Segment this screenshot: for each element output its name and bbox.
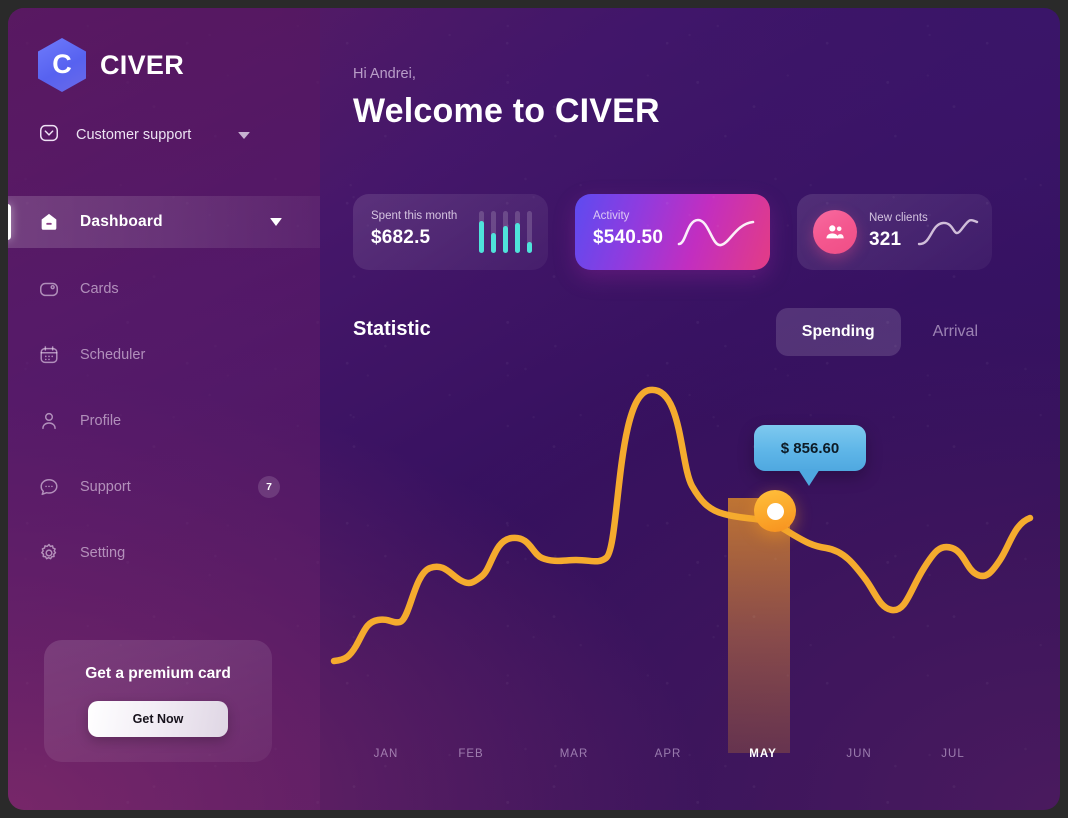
logo-hexagon-icon: C bbox=[38, 38, 86, 92]
gear-icon bbox=[38, 542, 60, 564]
axis-label-jul: JUL bbox=[941, 748, 964, 760]
tooltip-arrow-icon bbox=[798, 469, 820, 486]
sidebar-nav: Dashboard Cards bbox=[8, 196, 320, 594]
calendar-icon bbox=[38, 344, 60, 366]
stat-card-value: $682.5 bbox=[371, 227, 457, 249]
premium-card-promo: Get a premium card Get Now bbox=[44, 640, 272, 762]
stat-card-spent[interactable]: Spent this month $682.5 bbox=[353, 194, 548, 270]
brand-logo[interactable]: C CIVER bbox=[38, 38, 184, 92]
sidebar-item-customer-support[interactable]: Customer support bbox=[38, 118, 282, 152]
wave-mini-chart bbox=[676, 214, 756, 252]
chart-data-point-marker[interactable] bbox=[754, 490, 796, 532]
stat-card-new-clients[interactable]: New clients 321 bbox=[797, 194, 992, 270]
axis-label-jun: JUN bbox=[846, 748, 871, 760]
customer-support-label: Customer support bbox=[76, 127, 191, 143]
tab-spending[interactable]: Spending bbox=[776, 308, 901, 356]
card-icon bbox=[38, 278, 60, 300]
sidebar-item-dashboard[interactable]: Dashboard bbox=[8, 196, 320, 248]
stat-card-label: Spent this month bbox=[371, 210, 457, 222]
logo-letter: C bbox=[52, 51, 72, 78]
spending-line bbox=[334, 390, 1030, 661]
axis-label-jan: JAN bbox=[374, 748, 399, 760]
bar-mini-chart bbox=[479, 211, 532, 255]
sidebar-item-label: Setting bbox=[80, 545, 125, 561]
axis-label-may: MAY bbox=[749, 748, 777, 760]
user-icon bbox=[38, 410, 60, 432]
sidebar-item-support[interactable]: Support 7 bbox=[8, 462, 320, 512]
chart-svg bbox=[320, 368, 1060, 768]
sidebar-item-label: Support bbox=[80, 479, 131, 495]
active-indicator bbox=[8, 204, 11, 240]
stat-card-value: $540.50 bbox=[593, 227, 663, 249]
chat-icon bbox=[38, 476, 60, 498]
statistic-tabs: Spending Arrival bbox=[776, 308, 1004, 356]
promo-title: Get a premium card bbox=[85, 665, 231, 683]
wave-mini-chart bbox=[917, 214, 979, 250]
tab-arrival[interactable]: Arrival bbox=[907, 308, 1004, 356]
sidebar-item-label: Cards bbox=[80, 281, 119, 297]
spending-line-chart[interactable]: $ 856.60 JAN FEB MAR APR MAY JUN JUL bbox=[320, 368, 1060, 810]
stat-cards: Spent this month $682.5 Activity $540.50 bbox=[353, 194, 992, 270]
inbox-icon bbox=[38, 122, 60, 149]
home-icon bbox=[38, 211, 60, 233]
axis-label-apr: APR bbox=[655, 748, 682, 760]
sidebar-item-cards[interactable]: Cards bbox=[8, 264, 320, 314]
get-now-button[interactable]: Get Now bbox=[88, 701, 228, 737]
app-window: C CIVER Customer support bbox=[8, 8, 1060, 810]
may-highlight-band bbox=[728, 498, 790, 753]
main-content: Hi Andrei, Welcome to CIVER Spent this m… bbox=[320, 8, 1060, 810]
sidebar-item-label: Profile bbox=[80, 413, 121, 429]
statistic-heading: Statistic bbox=[353, 318, 431, 341]
chevron-down-icon[interactable] bbox=[270, 218, 282, 226]
axis-label-mar: MAR bbox=[560, 748, 589, 760]
chevron-down-icon[interactable] bbox=[238, 132, 250, 139]
axis-label-feb: FEB bbox=[458, 748, 483, 760]
sidebar-item-label: Dashboard bbox=[80, 213, 163, 231]
support-badge: 7 bbox=[258, 476, 280, 498]
stat-card-activity[interactable]: Activity $540.50 bbox=[575, 194, 770, 270]
people-icon bbox=[813, 210, 857, 254]
brand-name: CIVER bbox=[100, 50, 184, 81]
sidebar: C CIVER Customer support bbox=[8, 8, 320, 810]
page-title: Welcome to CIVER bbox=[353, 92, 660, 131]
chart-x-axis: JAN FEB MAR APR MAY JUN JUL bbox=[320, 748, 1060, 768]
sidebar-item-label: Scheduler bbox=[80, 347, 145, 363]
tooltip-value: $ 856.60 bbox=[781, 440, 839, 457]
greeting-text: Hi Andrei, bbox=[353, 66, 416, 82]
sidebar-item-setting[interactable]: Setting bbox=[8, 528, 320, 578]
stat-card-label: Activity bbox=[593, 210, 663, 222]
sidebar-item-profile[interactable]: Profile bbox=[8, 396, 320, 446]
sidebar-item-scheduler[interactable]: Scheduler bbox=[8, 330, 320, 380]
chart-tooltip: $ 856.60 bbox=[754, 425, 866, 471]
